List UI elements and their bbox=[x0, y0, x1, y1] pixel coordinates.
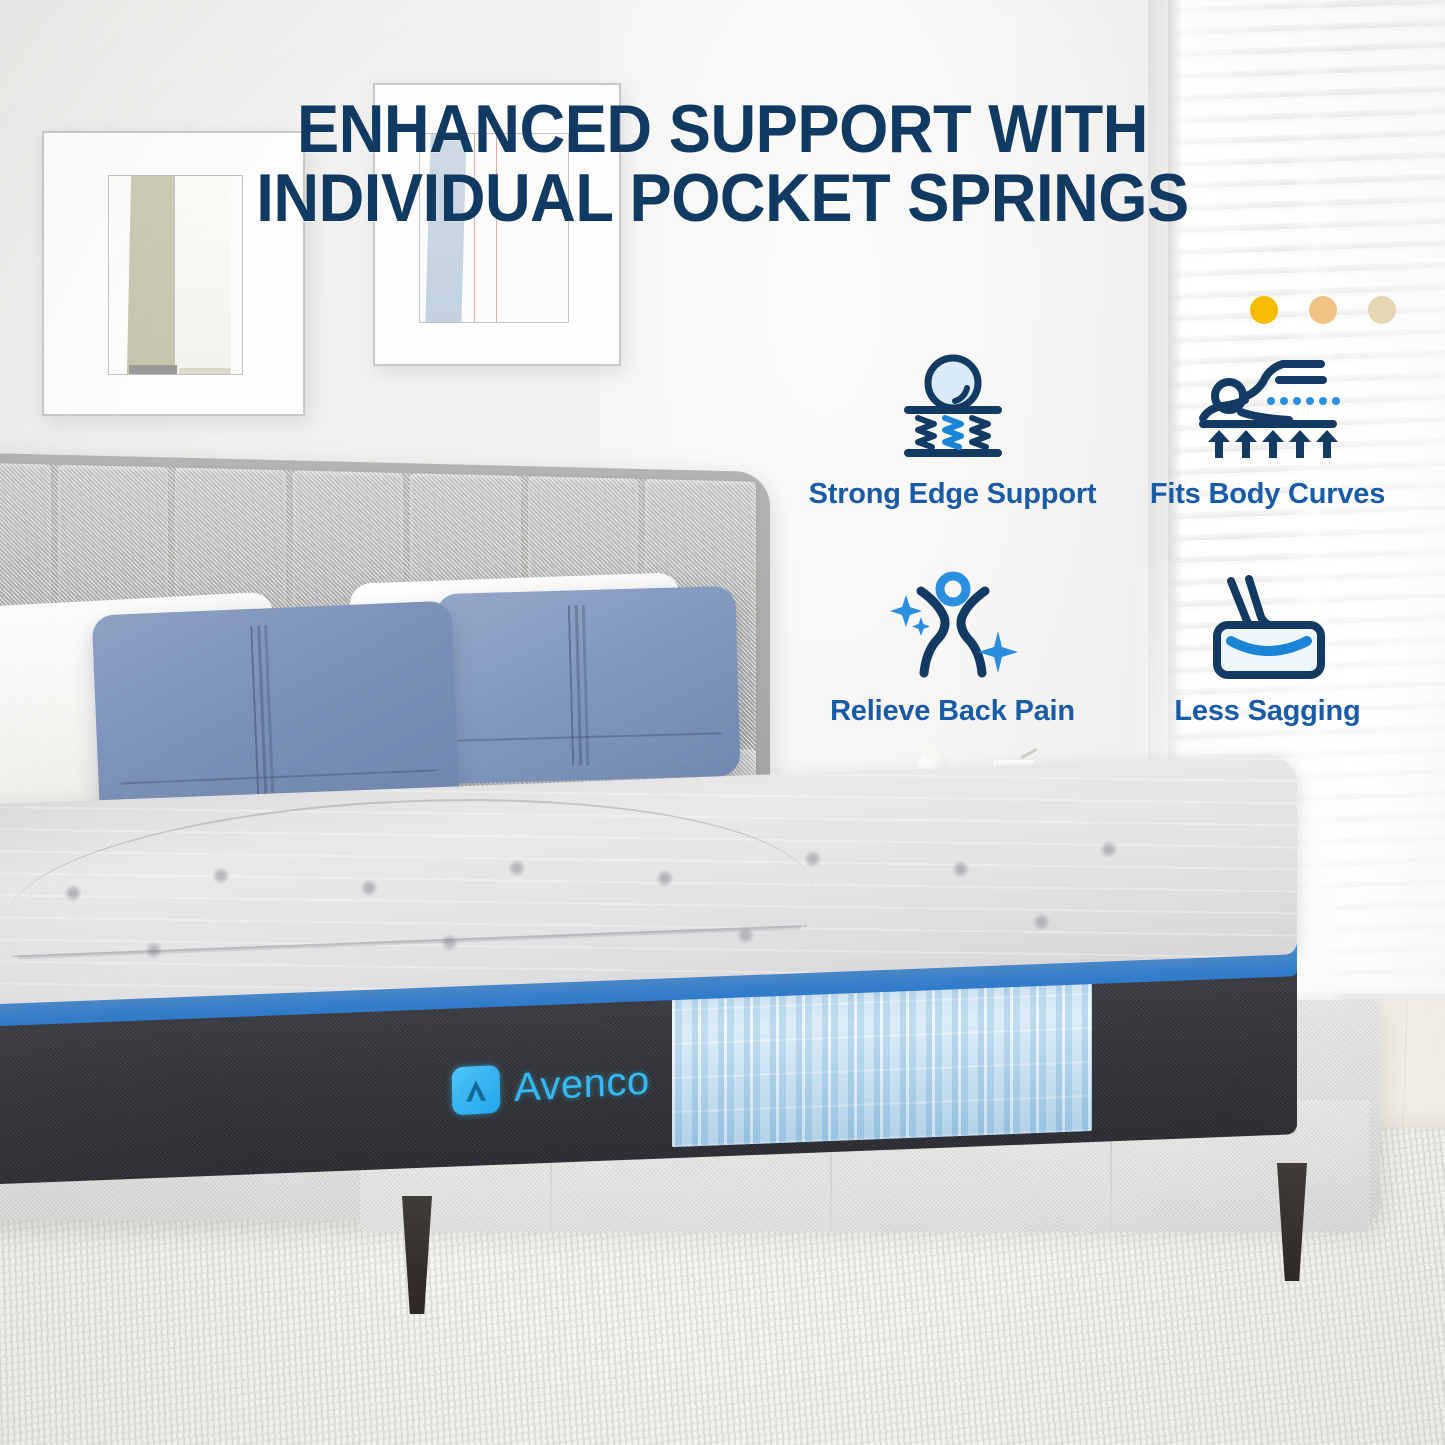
feature-label: Less Sagging bbox=[1174, 695, 1360, 728]
avenco-chevron-logo-icon bbox=[452, 1065, 501, 1116]
feature-strong-edge-support: Strong Edge Support bbox=[800, 352, 1105, 511]
dot-3[interactable] bbox=[1368, 296, 1396, 324]
pillow-stripe-detail bbox=[568, 606, 575, 766]
dot-active[interactable] bbox=[1250, 296, 1278, 324]
feature-fits-body-curves: Fits Body Curves bbox=[1115, 352, 1420, 511]
legs-on-mattress-icon bbox=[1203, 569, 1333, 681]
ball-on-springs-icon bbox=[894, 352, 1012, 464]
headline-line-1: ENHANCED SUPPORT WITH bbox=[51, 95, 1395, 164]
feature-relieve-back-pain: Relieve Back Pain bbox=[800, 569, 1105, 728]
feature-grid: Strong Edge Support bbox=[800, 352, 1420, 728]
page-title: ENHANCED SUPPORT WITH INDIVIDUAL POCKET … bbox=[51, 95, 1395, 234]
pillow-stripe-detail bbox=[251, 626, 262, 809]
carousel-dots[interactable] bbox=[1250, 296, 1396, 324]
stretching-person-sparkles-icon bbox=[888, 569, 1018, 681]
art-shape-gray-foot bbox=[129, 365, 177, 374]
pillow-blue-right bbox=[435, 586, 740, 784]
headline-line-2: INDIVIDUAL POCKET SPRINGS bbox=[51, 164, 1395, 233]
feature-less-sagging: Less Sagging bbox=[1115, 569, 1420, 728]
feature-label: Fits Body Curves bbox=[1150, 478, 1385, 511]
feature-label: Relieve Back Pain bbox=[830, 695, 1075, 728]
brand-name: Avenco bbox=[514, 1058, 650, 1111]
art-shape-tan-foot bbox=[179, 368, 231, 374]
vase-neck bbox=[925, 744, 938, 758]
pillow-hem-line bbox=[457, 732, 721, 741]
product-marketing-image: Avenco ENHANCED SUPPORT WITH INDIVIDUAL … bbox=[0, 0, 1445, 1445]
feature-label: Strong Edge Support bbox=[809, 478, 1097, 511]
dot-2[interactable] bbox=[1309, 296, 1337, 324]
reclining-body-with-arrows-icon bbox=[1193, 352, 1343, 464]
pillow-hem-line bbox=[120, 769, 437, 784]
